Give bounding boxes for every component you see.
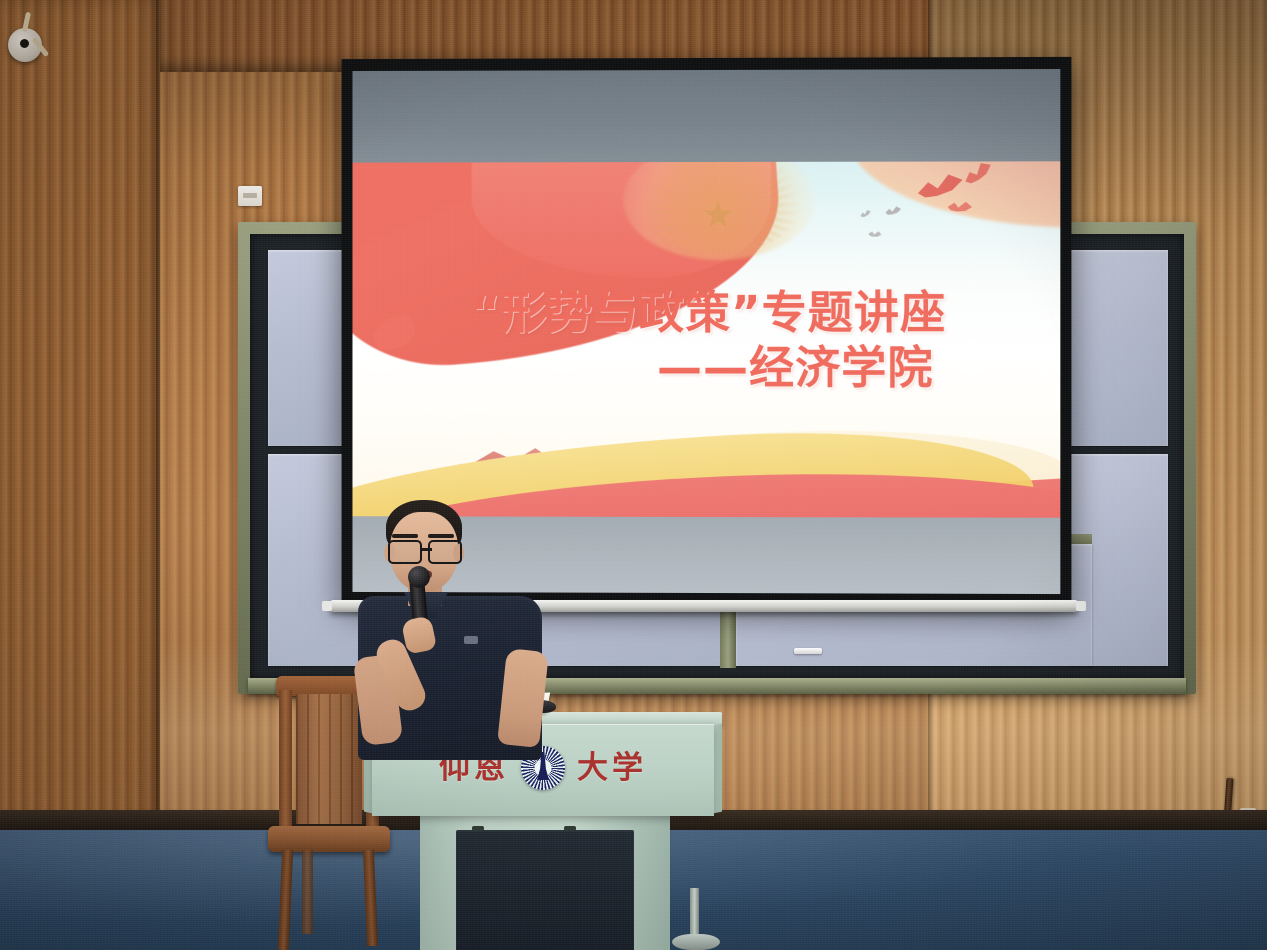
podium-fastener	[472, 826, 484, 831]
projection-unlit-top-band	[352, 69, 1060, 163]
podium-fastener	[564, 826, 576, 831]
speaker-shirt-logo	[464, 636, 478, 644]
bird-icon	[859, 208, 872, 220]
whiteboard-panel-right-top[interactable]	[1070, 250, 1168, 446]
podium-foot	[664, 888, 724, 950]
whiteboard-marker-clip	[794, 648, 822, 654]
presentation-slide: “形势与政策”专题讲座 ——经济学院	[352, 157, 1060, 537]
podium-foot-stem	[690, 888, 699, 938]
wall-switch-plate[interactable]	[238, 186, 262, 206]
lecture-hall-photo: “形势与政策”专题讲座 ——经济学院	[0, 0, 1267, 950]
slide-title-line1: “形势与政策”专题讲座	[352, 286, 1060, 340]
wall-left-panel	[0, 0, 160, 950]
slide-subtitle-line2: ——经济学院	[352, 340, 1060, 396]
glasses-lens-right	[428, 540, 462, 564]
glasses-icon	[386, 540, 464, 560]
speaker-eyebrow-left	[392, 534, 418, 538]
speaker-eyebrow-right	[428, 534, 454, 538]
podium-front-panel	[456, 830, 634, 950]
podium-word-right: 大学	[577, 751, 647, 785]
chair-stile-left	[279, 690, 292, 836]
chair-leg	[278, 850, 293, 950]
glasses-bridge	[420, 548, 432, 551]
microphone-head-icon	[408, 566, 430, 588]
chair-leg	[302, 850, 313, 934]
warm-glow-corner	[849, 157, 1060, 228]
bird-icon	[885, 205, 902, 219]
slide-title-block: “形势与政策”专题讲座 ——经济学院	[352, 286, 1060, 396]
bird-icon	[867, 229, 882, 241]
emblem-core	[535, 760, 552, 777]
speaker-person	[352, 500, 552, 760]
wall-seam-left	[156, 0, 161, 950]
glasses-lens-left	[388, 540, 422, 564]
podium-foot-base	[672, 934, 720, 950]
